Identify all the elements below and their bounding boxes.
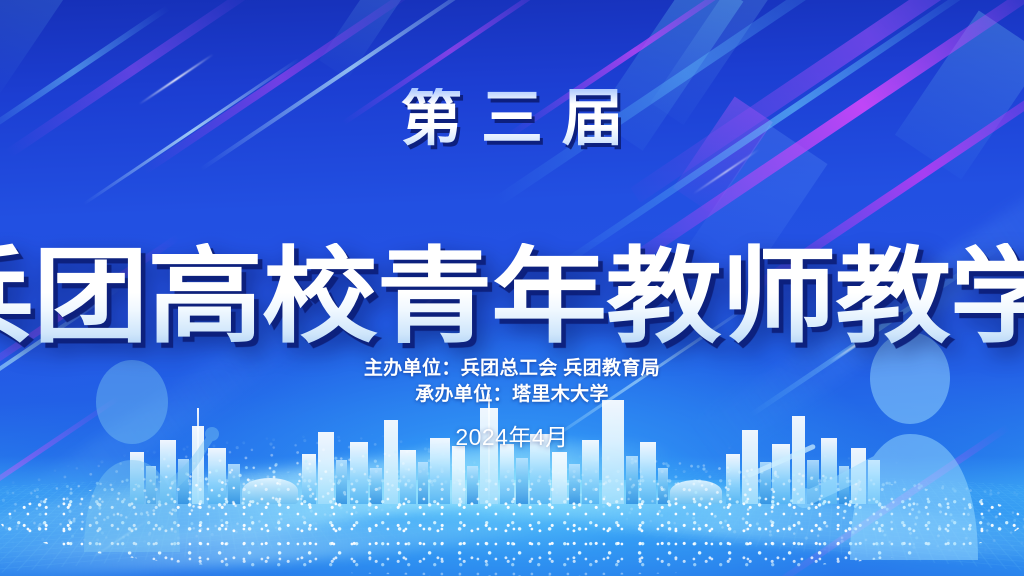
organizer-line: 主办单位：兵团总工会 兵团教育局 bbox=[0, 356, 1024, 382]
organizer-block: 主办单位：兵团总工会 兵团教育局 承办单位：塔里木大学 2024年4月 bbox=[0, 356, 1024, 452]
host-line: 承办单位：塔里木大学 bbox=[0, 382, 1024, 408]
panel-teal-4 bbox=[0, 0, 71, 96]
light-sweep-3 bbox=[0, 508, 560, 576]
event-date: 2024年4月 bbox=[0, 422, 1024, 452]
poster-canvas: 第三届 兵团高校青年教师教学竞赛 主办单位：兵团总工会 兵团教育局 承办单位：塔… bbox=[0, 0, 1024, 576]
panel-teal-5 bbox=[319, 0, 414, 79]
sparkle-streak-5 bbox=[91, 518, 150, 559]
page-title: 兵团高校青年教师教学竞赛 bbox=[0, 243, 1024, 351]
event-edition-kicker: 第三届 bbox=[0, 88, 1024, 150]
sparkle-streak-4 bbox=[693, 148, 760, 194]
